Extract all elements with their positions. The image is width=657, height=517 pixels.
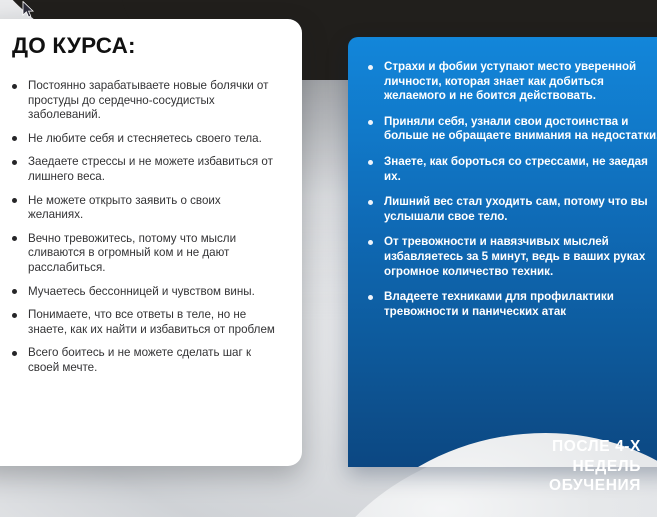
- bullet-dot-icon: [12, 351, 17, 356]
- bullet-dot-icon: [12, 160, 17, 165]
- list-item-text: Страхи и фобии уступают место уверенной …: [384, 60, 636, 102]
- list-item: Постоянно зарабатываете новые болячки от…: [12, 79, 276, 123]
- list-item-text: Лишний вес стал уходить сам, потому что …: [384, 195, 648, 223]
- slide-canvas: ДО КУРСА: Постоянно зарабатываете новые …: [0, 0, 657, 517]
- list-item: Понимаете, что все ответы в теле, но не …: [12, 308, 276, 337]
- list-item: Не любите себя и стесняетесь своего тела…: [12, 132, 276, 147]
- before-course-bullet-list: Постоянно зарабатываете новые болячки от…: [12, 79, 276, 376]
- before-course-list: Постоянно зарабатываете новые болячки от…: [12, 79, 276, 376]
- list-item-text: Вечно тревожитесь, потому что мысли слив…: [28, 232, 236, 274]
- list-item: Знаете, как бороться со стрессами, не за…: [368, 155, 657, 184]
- list-item-text: Не можете открыто заявить о своих желани…: [28, 194, 221, 222]
- list-item-text: Приняли себя, узнали свои достоинства и …: [384, 115, 657, 143]
- list-item-text: Постоянно зарабатываете новые болячки от…: [28, 79, 268, 121]
- list-item-text: Знаете, как бороться со стрессами, не за…: [384, 155, 648, 183]
- list-item: Владеете техниками для профилактики трев…: [368, 290, 657, 319]
- list-item-text: От тревожности и навязчивых мыслей избав…: [384, 235, 645, 277]
- bullet-dot-icon: [12, 136, 17, 141]
- list-item-text: Заедаете стрессы и не можете избавиться …: [28, 155, 273, 183]
- list-item: Вечно тревожитесь, потому что мысли слив…: [12, 232, 276, 276]
- bullet-dot-icon: [368, 295, 373, 300]
- bullet-dot-icon: [368, 65, 373, 70]
- list-item: Лишний вес стал уходить сам, потому что …: [368, 195, 657, 224]
- bullet-dot-icon: [368, 120, 373, 125]
- list-item: От тревожности и навязчивых мыслей избав…: [368, 235, 657, 279]
- bullet-dot-icon: [368, 160, 373, 165]
- list-item: Всего боитесь и не можете сделать шаг к …: [12, 346, 276, 375]
- after-course-bullet-list: Страхи и фобии уступают место уверенной …: [368, 60, 657, 319]
- list-item-text: Мучаетесь бессонницей и чувством вины.: [28, 285, 255, 298]
- after-course-caption: ПОСЛЕ 4-Х НЕДЕЛЬ ОБУЧЕНИЯ: [381, 437, 641, 496]
- list-item: Страхи и фобии уступают место уверенной …: [368, 60, 657, 104]
- bullet-dot-icon: [12, 313, 17, 318]
- bullet-dot-icon: [12, 289, 17, 294]
- list-item-text: Владеете техниками для профилактики трев…: [384, 290, 614, 318]
- before-course-card: ДО КУРСА: Постоянно зарабатываете новые …: [0, 19, 302, 466]
- after-course-list: Страхи и фобии уступают место уверенной …: [368, 60, 657, 330]
- list-item: Приняли себя, узнали свои достоинства и …: [368, 115, 657, 144]
- bullet-dot-icon: [368, 240, 373, 245]
- bullet-dot-icon: [12, 84, 17, 89]
- list-item-text: Понимаете, что все ответы в теле, но не …: [28, 308, 275, 336]
- mouse-cursor-icon: [22, 1, 36, 19]
- before-course-title: ДО КУРСА:: [12, 33, 136, 59]
- list-item-text: Всего боитесь и не можете сделать шаг к …: [28, 346, 251, 374]
- caption-line-1: ПОСЛЕ 4-Х: [381, 437, 641, 457]
- list-item: Заедаете стрессы и не можете избавиться …: [12, 155, 276, 184]
- list-item: Не можете открыто заявить о своих желани…: [12, 194, 276, 223]
- list-item-text: Не любите себя и стесняетесь своего тела…: [28, 132, 262, 145]
- caption-line-2: НЕДЕЛЬ: [381, 457, 641, 477]
- bullet-dot-icon: [368, 200, 373, 205]
- list-item: Мучаетесь бессонницей и чувством вины.: [12, 285, 276, 300]
- bullet-dot-icon: [12, 236, 17, 241]
- caption-line-3: ОБУЧЕНИЯ: [381, 476, 641, 496]
- bullet-dot-icon: [12, 198, 17, 203]
- after-course-card: Страхи и фобии уступают место уверенной …: [348, 37, 657, 467]
